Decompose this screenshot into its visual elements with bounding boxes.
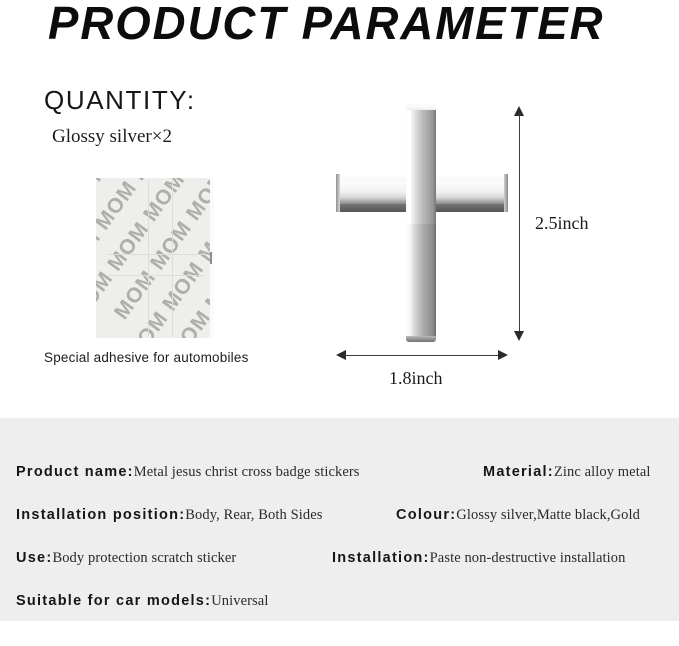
- spec-car-models: Suitable for car models:Universal: [16, 591, 268, 611]
- pad-notch: [210, 252, 212, 264]
- arrow-down-icon: [514, 331, 524, 341]
- spec-value: Body, Rear, Both Sides: [185, 507, 322, 523]
- spec-key: Suitable for car models:: [16, 593, 211, 609]
- spec-key: Colour:: [396, 507, 456, 523]
- spec-product-name: Product name:Metal jesus christ cross ba…: [16, 462, 360, 482]
- dimension-arrow-vertical: [510, 106, 530, 341]
- dimension-width-label: 1.8inch: [389, 368, 443, 389]
- spec-value: Universal: [211, 593, 268, 609]
- spec-panel: Product name:Metal jesus christ cross ba…: [0, 418, 679, 621]
- spec-row: Installation position:Body, Rear, Both S…: [0, 495, 679, 538]
- adhesive-pad-image: MOM MOM MOM MOM MOM MOM MOM MOM MOM MOM …: [96, 178, 214, 338]
- adhesive-pad-figure: MOM MOM MOM MOM MOM MOM MOM MOM MOM MOM …: [96, 178, 214, 338]
- quantity-heading: QUANTITY:: [44, 85, 196, 116]
- cross-vertical-arm-upper: [406, 106, 436, 224]
- spec-material: Material:Zinc alloy metal: [483, 462, 651, 482]
- spec-row: Use:Body protection scratch sticker Inst…: [0, 538, 679, 581]
- spec-installation: Installation:Paste non-destructive insta…: [332, 548, 626, 568]
- bevel-shadow: [433, 106, 436, 224]
- title-bar: PRODUCT PARAMETER: [0, 0, 679, 58]
- arrow-right-icon: [498, 350, 508, 360]
- quantity-value: Glossy silver×2: [52, 126, 172, 148]
- dimension-arrow-horizontal: [336, 346, 508, 366]
- dimension-height-label: 2.5inch: [535, 213, 589, 234]
- bevel-highlight: [407, 106, 411, 224]
- spec-value: Zinc alloy metal: [554, 464, 651, 480]
- adhesive-caption: Special adhesive for automobiles: [44, 350, 249, 365]
- spec-key: Installation position:: [16, 507, 185, 523]
- arm-tip-right: [504, 174, 508, 212]
- diecut-horizontal-line: [108, 254, 204, 276]
- spec-key: Product name:: [16, 464, 134, 480]
- spec-value: Glossy silver,Matte black,Gold: [456, 507, 640, 523]
- arm-tip-top: [406, 106, 436, 110]
- spec-key: Material:: [483, 464, 554, 480]
- spec-value: Metal jesus christ cross badge stickers: [134, 464, 360, 480]
- spec-value: Body protection scratch sticker: [52, 550, 236, 566]
- arm-tip-bottom: [406, 336, 436, 342]
- spec-installation-position: Installation position:Body, Rear, Both S…: [16, 505, 323, 525]
- cross-product-image: [330, 104, 520, 349]
- page-title: PRODUCT PARAMETER: [48, 0, 605, 50]
- spec-row: Product name:Metal jesus christ cross ba…: [0, 452, 679, 495]
- arm-tip-left: [336, 174, 340, 212]
- dimension-line: [519, 113, 520, 334]
- spec-colour: Colour:Glossy silver,Matte black,Gold: [396, 505, 640, 525]
- spec-key: Installation:: [332, 550, 430, 566]
- spec-row: Suitable for car models:Universal: [0, 581, 679, 624]
- dimension-line: [343, 355, 501, 356]
- spec-key: Use:: [16, 550, 52, 566]
- spec-value: Paste non-destructive installation: [430, 550, 626, 566]
- spec-use: Use:Body protection scratch sticker: [16, 548, 236, 568]
